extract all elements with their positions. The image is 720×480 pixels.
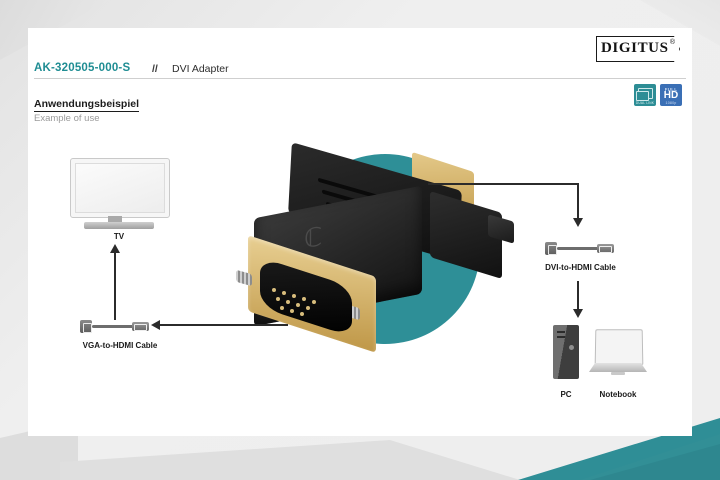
pc-drive-slot [557,331,565,333]
pc-power-button [569,345,574,350]
connector-line-dvi-to-pc [577,281,579,310]
label-dvi-to-hdmi-cable: DVI-to-HDMI Cable [523,263,638,272]
cable-vga-plug [80,320,92,333]
tv-icon [70,158,170,218]
label-vga-to-hdmi-cable: VGA-to-HDMI Cable [65,341,175,350]
vga-pin [296,303,300,307]
header-separator: // [152,63,158,75]
vga-pin [300,312,304,316]
laptop-icon [589,329,647,379]
dual-link-caption: DUAL LINK [635,101,655,105]
section-title-german: Anwendungsbeispiel [34,98,139,112]
badge-hd-label: HD [660,90,682,101]
monitor-icon-secondary [636,91,649,101]
vga-pin [302,297,306,301]
logo-registered-mark: ® [670,39,675,46]
connector-line-adapter-to-dvi-h [428,183,578,185]
connector-line-vga-to-tv [114,252,116,320]
vga-pin [276,297,280,301]
cable-icon-vga-to-hdmi [80,316,150,336]
arrowhead-up-to-tv [110,244,120,253]
section-title-english: Example of use [34,113,99,124]
vga-pin [286,300,290,304]
logo-text: DIGITUS [601,40,669,57]
vga-pin [280,306,284,310]
vga-pin [306,306,310,310]
dual-link-badge: DUAL LINK [634,84,656,106]
vga-pin [272,288,276,292]
vga-pin [282,291,286,295]
label-notebook: Notebook [588,390,648,399]
label-tv: TV [79,232,159,241]
connector-line-adapter-to-dvi-v [577,183,579,219]
cable-hdmi-plug [132,322,149,331]
pc-drive-slot-2 [557,336,565,338]
cable-wire [92,325,134,328]
header-divider [34,78,686,79]
connector-line-adapter-to-vga [160,324,288,326]
vga-pin [312,300,316,304]
label-pc: PC [546,390,586,399]
arrowhead-down-to-pc [573,309,583,318]
cable-wire [557,247,599,250]
arrowhead-down-to-dvi-cable [573,218,583,227]
cable-icon-dvi-to-hdmi [545,238,615,258]
feature-badges: DUAL LINK FULL HD 1080p [634,84,682,106]
tv-stand-base [84,222,154,229]
badge-resolution-label: 1080p [660,101,682,105]
cable-dvi-plug [545,242,557,255]
product-name: DVI Adapter [172,63,229,75]
arrowhead-left-to-vga-cable [151,320,160,330]
laptop-touchpad [611,372,625,375]
full-hd-badge: FULL HD 1080p [660,84,682,106]
desktop-tower-icon [553,325,579,379]
laptop-screen [595,329,644,365]
vga-pin [290,309,294,313]
laptop-keyboard-base [589,363,647,372]
vga-pin [292,294,296,298]
product-sku: AK-320505-000-S [34,62,130,74]
cable-hdmi-plug [597,244,614,253]
digitus-logo: DIGITUS ® [596,36,680,62]
tv-screen [75,163,165,213]
product-image-dvi-adapter: ℂ [232,160,522,350]
